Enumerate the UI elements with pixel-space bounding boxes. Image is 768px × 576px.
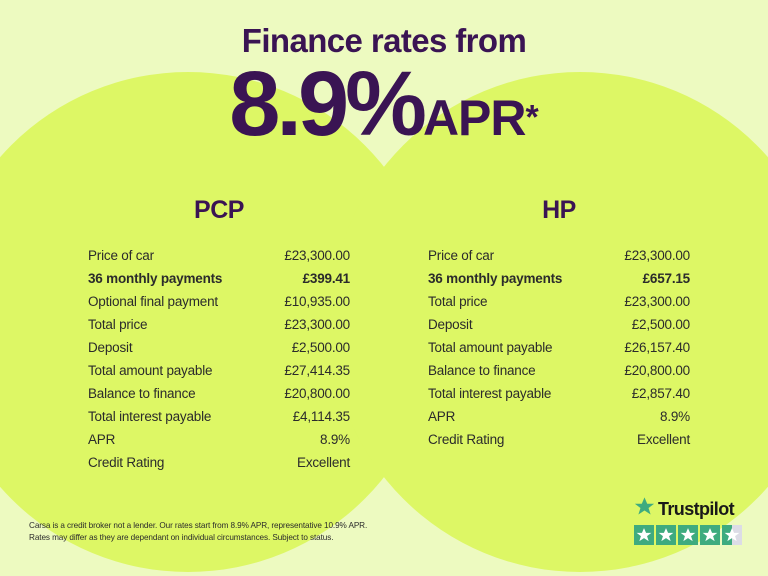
- row-label: Price of car: [428, 244, 494, 267]
- table-row: 36 monthly payments£657.15: [428, 267, 690, 290]
- row-value: £23,300.00: [276, 313, 350, 336]
- row-label: Price of car: [88, 244, 154, 267]
- row-label: 36 monthly payments: [88, 267, 222, 290]
- table-row: Total interest payable£4,114.35: [88, 405, 350, 428]
- rate-unit: APR: [423, 90, 526, 146]
- row-label: Credit Rating: [428, 428, 504, 451]
- row-value: 8.9%: [312, 428, 350, 451]
- table-row: APR8.9%: [428, 405, 690, 428]
- table-row: Deposit£2,500.00: [88, 336, 350, 359]
- row-value: £26,157.40: [616, 336, 690, 359]
- plan-hp-rows: Price of car£23,300.0036 monthly payment…: [428, 244, 690, 451]
- table-row: Balance to finance£20,800.00: [428, 359, 690, 382]
- table-row: Optional final payment£10,935.00: [88, 290, 350, 313]
- row-label: Total interest payable: [88, 405, 211, 428]
- row-value: £657.15: [635, 267, 690, 290]
- row-label: Balance to finance: [88, 382, 195, 405]
- table-row: Total amount payable£26,157.40: [428, 336, 690, 359]
- row-value: £23,300.00: [276, 244, 350, 267]
- row-value: Excellent: [289, 451, 350, 474]
- table-row: 36 monthly payments£399.41: [88, 267, 350, 290]
- row-label: Total amount payable: [428, 336, 552, 359]
- table-row: Total amount payable£27,414.35: [88, 359, 350, 382]
- finance-rates-banner: Finance rates from 8.9%APR* PCP Price of…: [0, 0, 768, 576]
- row-label: Credit Rating: [88, 451, 164, 474]
- row-value: 8.9%: [652, 405, 690, 428]
- row-value: £20,800.00: [616, 359, 690, 382]
- row-label: Total amount payable: [88, 359, 212, 382]
- row-value: £20,800.00: [276, 382, 350, 405]
- star-icon: [678, 525, 698, 545]
- star-icon: [722, 525, 742, 545]
- trustpilot-stars: [634, 525, 746, 545]
- row-value: £2,500.00: [284, 336, 350, 359]
- disclaimer-line-1: Carsa is a credit broker not a lender. O…: [29, 520, 459, 532]
- trustpilot-rating: Trustpilot: [634, 496, 746, 545]
- trustpilot-name: Trustpilot: [658, 500, 734, 518]
- table-row: APR8.9%: [88, 428, 350, 451]
- rate-value: 8.9%: [229, 53, 423, 155]
- table-row: Balance to finance£20,800.00: [88, 382, 350, 405]
- row-value: £23,300.00: [616, 244, 690, 267]
- row-label: Total price: [88, 313, 147, 336]
- row-value: Excellent: [629, 428, 690, 451]
- table-row: Total interest payable£2,857.40: [428, 382, 690, 405]
- table-row: Deposit£2,500.00: [428, 313, 690, 336]
- row-value: £27,414.35: [276, 359, 350, 382]
- rate-headline: 8.9%APR*: [0, 58, 768, 150]
- row-value: £2,857.40: [624, 382, 690, 405]
- plan-pcp: PCP Price of car£23,300.0036 monthly pay…: [88, 196, 350, 474]
- row-label: Total price: [428, 290, 487, 313]
- row-label: Deposit: [88, 336, 132, 359]
- table-row: Credit RatingExcellent: [88, 451, 350, 474]
- star-icon: [700, 525, 720, 545]
- row-label: 36 monthly payments: [428, 267, 562, 290]
- plan-hp: HP Price of car£23,300.0036 monthly paym…: [428, 196, 690, 451]
- row-value: £23,300.00: [616, 290, 690, 313]
- row-label: Total interest payable: [428, 382, 551, 405]
- disclaimer-line-2: Rates may differ as they are dependant o…: [29, 532, 459, 544]
- star-icon: [634, 525, 654, 545]
- row-label: APR: [88, 428, 115, 451]
- row-value: £2,500.00: [624, 313, 690, 336]
- row-label: APR: [428, 405, 455, 428]
- row-label: Deposit: [428, 313, 472, 336]
- plan-pcp-rows: Price of car£23,300.0036 monthly payment…: [88, 244, 350, 474]
- rate-asterisk: *: [526, 99, 539, 137]
- table-row: Price of car£23,300.00: [428, 244, 690, 267]
- trustpilot-wordmark: Trustpilot: [634, 496, 746, 522]
- table-row: Credit RatingExcellent: [428, 428, 690, 451]
- table-row: Total price£23,300.00: [88, 313, 350, 336]
- row-value: £4,114.35: [285, 405, 350, 428]
- star-icon: [656, 525, 676, 545]
- plan-pcp-title: PCP: [88, 196, 350, 225]
- disclaimer: Carsa is a credit broker not a lender. O…: [29, 520, 459, 543]
- row-label: Balance to finance: [428, 359, 535, 382]
- star-icon: [634, 496, 655, 522]
- row-label: Optional final payment: [88, 290, 218, 313]
- row-value: £399.41: [295, 267, 350, 290]
- plan-hp-title: HP: [428, 196, 690, 225]
- row-value: £10,935.00: [276, 290, 350, 313]
- table-row: Price of car£23,300.00: [88, 244, 350, 267]
- table-row: Total price£23,300.00: [428, 290, 690, 313]
